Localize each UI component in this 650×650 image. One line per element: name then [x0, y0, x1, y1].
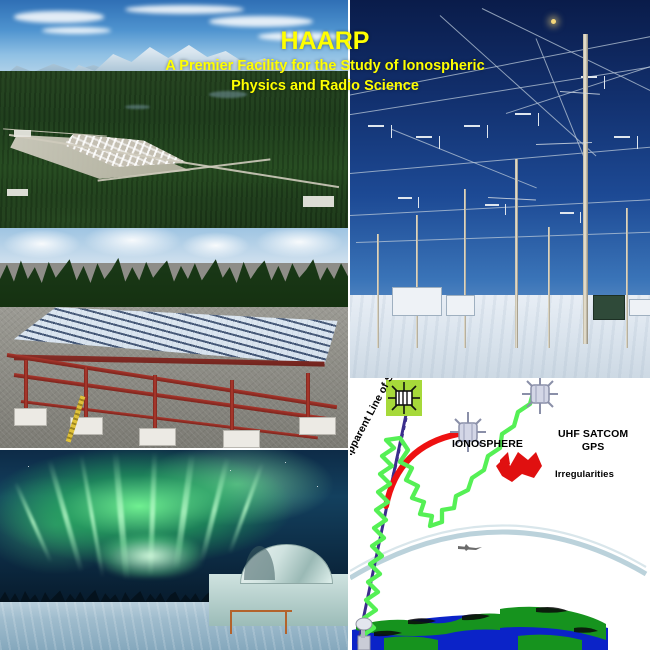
antenna-mast [626, 208, 628, 348]
haarp-poster: IONOSPHERE UHF SATCOM GPS Irregularities… [0, 0, 650, 650]
mast-crossarm [488, 197, 536, 201]
aircraft-icon [458, 544, 482, 551]
label-uhf-satcom-gps: UHF SATCOM GPS [558, 428, 628, 454]
antenna-mast [548, 227, 550, 348]
cloud [258, 32, 342, 41]
cloud [14, 11, 104, 22]
propagation-diagram-svg [350, 378, 650, 650]
star [28, 466, 29, 467]
transmitter-shelter [593, 295, 625, 320]
building [14, 130, 31, 137]
dipole-dropper [418, 197, 419, 208]
frame-leg [24, 360, 28, 413]
concrete-footing [299, 417, 336, 434]
signal-propagation-path [362, 390, 534, 646]
dipole-dropper [637, 136, 638, 149]
concrete-footing [139, 428, 176, 445]
sun-glint [551, 19, 556, 24]
dipole-dropper [391, 125, 392, 138]
antenna-mast [464, 189, 466, 348]
dipole-crossarm [416, 136, 432, 138]
antenna-mast [416, 215, 418, 347]
lake [209, 91, 247, 98]
dipole-dropper [439, 136, 440, 149]
star [230, 470, 231, 471]
antenna-mast [515, 159, 518, 348]
guy-wire [350, 30, 650, 100]
equipment-shelter [629, 299, 650, 316]
dipole-crossarm [485, 204, 499, 206]
panel-aerial-view [0, 0, 348, 228]
main-antenna-mast [583, 34, 588, 344]
label-irregularities: Irregularities [555, 469, 614, 480]
concrete-footing [14, 408, 47, 425]
dipole-crossarm [515, 113, 531, 115]
dipole-crossarm [368, 125, 384, 127]
dipole-crossarm [398, 197, 412, 199]
equipment-shelter [392, 287, 442, 315]
star [317, 486, 318, 487]
building [303, 196, 334, 207]
dipole-dropper [505, 204, 506, 215]
label-ionosphere: IONOSPHERE [452, 438, 523, 450]
dipole-dropper [538, 113, 539, 126]
dipole-dropper [604, 76, 605, 89]
panel-ionospheric-diagram: IONOSPHERE UHF SATCOM GPS Irregularities… [350, 378, 650, 650]
dipole-crossarm [560, 212, 574, 214]
handrail [230, 610, 293, 612]
guy-wire [350, 199, 650, 216]
equipment-shelter [446, 295, 475, 316]
concrete-footing [223, 430, 260, 447]
antenna-mast [377, 234, 379, 347]
aurora-bright-core [97, 534, 201, 578]
panel-aurora [0, 450, 348, 650]
handrail-post [285, 610, 287, 634]
dipole-crossarm [464, 125, 480, 127]
guy-wire [356, 231, 650, 242]
refracted-ray [386, 434, 458, 506]
gps-satellite-icon [522, 378, 558, 414]
guy-wire [350, 145, 650, 175]
guy-wire [440, 15, 597, 156]
dipole-dropper [487, 125, 488, 138]
building [7, 189, 28, 196]
clouds [0, 228, 348, 263]
dipole-crossarm [614, 136, 630, 138]
frame-leg [84, 367, 88, 424]
panel-phased-array-radar [0, 228, 348, 448]
star [285, 462, 286, 463]
handrail-post [230, 610, 232, 634]
label-uhf-satcom-line: UHF SATCOM [558, 428, 628, 441]
dipole-dropper [580, 212, 581, 223]
panel-antenna-field [350, 0, 650, 378]
ionosphere-arc [350, 532, 646, 578]
cloud [125, 5, 243, 14]
guy-wire [482, 8, 650, 114]
label-gps-line: GPS [558, 441, 628, 454]
